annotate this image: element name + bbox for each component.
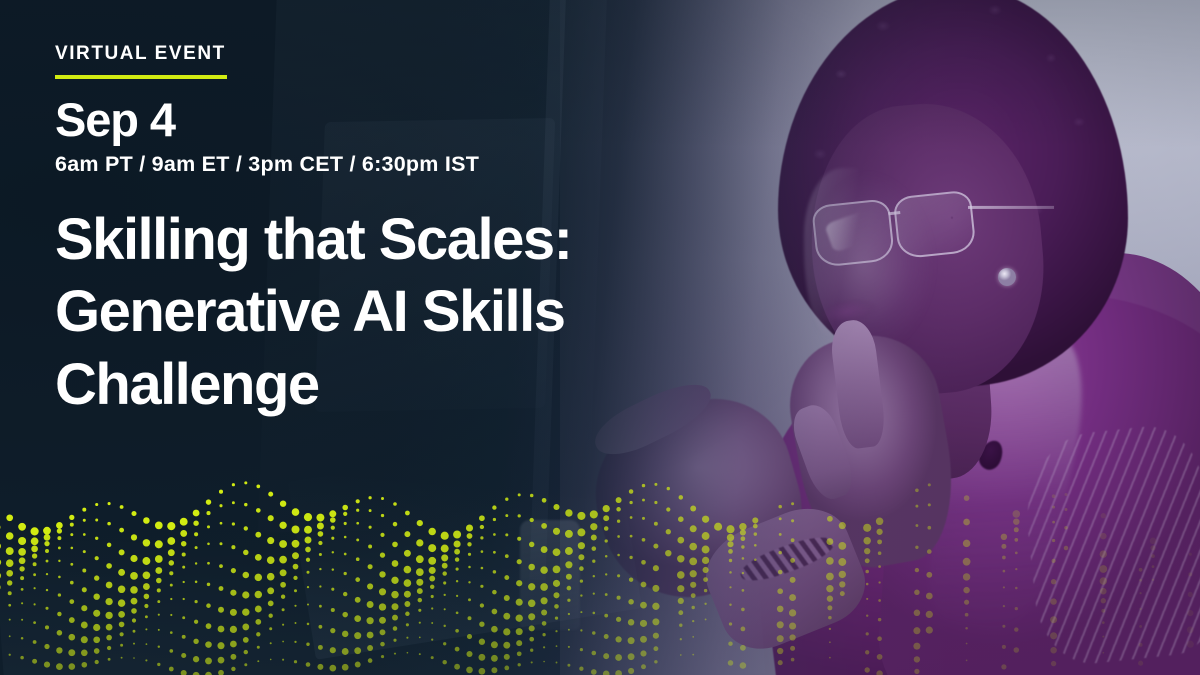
headline-line-2: Generative AI Skills <box>55 276 735 349</box>
page-title: Skilling that Scales: Generative AI Skil… <box>55 204 735 422</box>
event-banner: VIRTUAL EVENT Sep 4 6am PT / 9am ET / 3p… <box>0 0 1200 675</box>
banner-content: VIRTUAL EVENT Sep 4 6am PT / 9am ET / 3p… <box>55 44 735 422</box>
headline-line-3: Challenge <box>55 349 735 422</box>
event-times: 6am PT / 9am ET / 3pm CET / 6:30pm IST <box>55 153 735 177</box>
event-type-label: VIRTUAL EVENT <box>55 44 735 63</box>
event-date: Sep 4 <box>55 96 735 144</box>
accent-rule <box>55 75 227 79</box>
background-water-bottle <box>520 520 580 630</box>
headline-line-1: Skilling that Scales: <box>55 204 735 277</box>
background-desk <box>0 494 765 675</box>
